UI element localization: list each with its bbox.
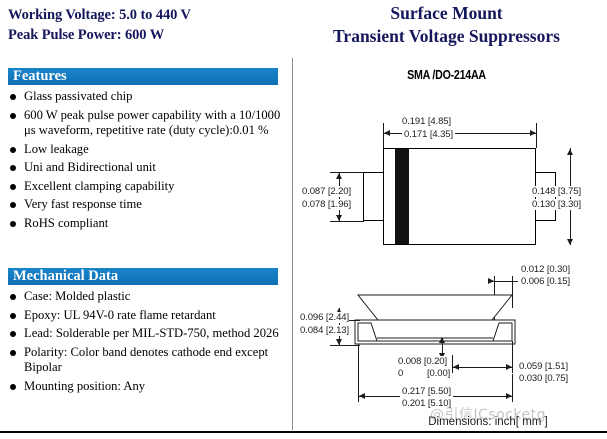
ext-line <box>536 123 537 148</box>
dim-line-foot <box>452 367 512 368</box>
list-item-text: Very fast response time <box>24 197 288 213</box>
features-list: Glass passivated chip 600 W peak pulse p… <box>8 89 288 234</box>
bullet-icon <box>10 202 16 208</box>
bullet-icon <box>10 384 16 390</box>
arrow-right-icon <box>488 278 494 284</box>
list-item: Mounting position: Any <box>8 379 288 395</box>
arrow-right-icon <box>530 130 536 136</box>
working-voltage-line: Working Voltage: 5.0 to 440 V <box>8 5 298 25</box>
arrow-down-icon <box>567 239 573 245</box>
list-item: Low leakage <box>8 142 288 158</box>
dim-width-max: 0.191 [4.85] <box>402 116 451 127</box>
dim-standoff-min: 0 <box>398 368 403 379</box>
arrow-up-icon <box>336 173 342 179</box>
dim-foot-max: 0.059 [1.51] <box>519 361 568 372</box>
ext-line <box>330 345 360 346</box>
dim-thickness-max: 0.012 [0.30] <box>521 264 570 275</box>
ext-line <box>512 341 513 373</box>
arrow-left-icon <box>384 130 390 136</box>
bullet-icon <box>10 184 16 190</box>
mechanical-data-list: Case: Molded plastic Epoxy: UL 94V-0 rat… <box>8 289 288 397</box>
document-title: Surface Mount Transient Voltage Suppress… <box>286 2 607 48</box>
arrow-right-icon <box>506 364 512 370</box>
dim-lead-max: 0.087 [2.20] <box>302 186 351 197</box>
arrow-right-icon <box>506 393 512 399</box>
list-item-text: Uni and Bidirectional unit <box>24 160 288 176</box>
dimensions-note: Dimensions: inch[ mm ] <box>383 416 593 428</box>
list-item: 600 W peak pulse power capability with a… <box>8 108 288 139</box>
list-item: Case: Molded plastic <box>8 289 288 305</box>
arrow-left-icon <box>453 364 459 370</box>
ext-line <box>512 374 513 402</box>
header-spec-block: Working Voltage: 5.0 to 440 V Peak Pulse… <box>8 5 298 45</box>
list-item-text: Epoxy: UL 94V-0 rate flame retardant <box>24 308 288 324</box>
title-line-1: Surface Mount <box>286 2 607 25</box>
bullet-icon <box>10 313 16 319</box>
dim-length-max: 0.217 [5.50] <box>400 386 453 397</box>
mechanical-data-heading-label: Mechanical Data <box>13 267 118 285</box>
list-item: Lead: Solderable per MIL-STD-750, method… <box>8 326 288 342</box>
dim-height-min: 0.130 [3.30] <box>530 199 583 210</box>
bullet-icon <box>10 221 16 227</box>
ext-line <box>330 221 364 222</box>
dim-body-max: 0.096 [2.44] <box>300 312 349 323</box>
cathode-band <box>395 149 409 244</box>
peak-pulse-power-line: Peak Pulse Power: 600 W <box>8 25 298 45</box>
arrow-down-icon <box>336 339 342 345</box>
list-item-text: 600 W peak pulse power capability with a… <box>24 108 288 139</box>
dim-height-max: 0.148 [3.75] <box>530 186 583 197</box>
list-item: Uni and Bidirectional unit <box>8 160 288 176</box>
bottom-rule <box>0 431 607 433</box>
dim-width-min: 0.171 [4.35] <box>402 129 455 140</box>
list-item: RoHS compliant <box>8 216 288 232</box>
dim-standoff-min-mm: [0.00] <box>427 368 450 379</box>
list-item-text: Lead: Solderable per MIL-STD-750, method… <box>24 326 288 342</box>
bullet-icon <box>10 331 16 337</box>
list-item: Polarity: Color band denotes cathode end… <box>8 345 288 376</box>
features-heading-label: Features <box>13 67 67 85</box>
dim-body-min: 0.084 [2.13] <box>300 325 349 336</box>
list-item-text: Case: Molded plastic <box>24 289 288 305</box>
list-item: Very fast response time <box>8 197 288 213</box>
bullet-icon <box>10 350 16 356</box>
mechanical-data-heading-banner: Mechanical Data <box>8 268 278 285</box>
dim-foot-min: 0.030 [0.75] <box>519 373 568 384</box>
bullet-icon <box>10 165 16 171</box>
list-item-text: Polarity: Color band denotes cathode end… <box>24 345 288 376</box>
list-item-text: Excellent clamping capability <box>24 179 288 195</box>
arrow-left-icon <box>359 393 365 399</box>
list-item: Glass passivated chip <box>8 89 288 105</box>
bullet-icon <box>10 94 16 100</box>
dim-lead-min: 0.078 [1.96] <box>302 199 351 210</box>
bullet-icon <box>10 294 16 300</box>
arrow-down-icon <box>336 215 342 221</box>
arrow-up-icon <box>439 337 445 343</box>
bullet-icon <box>10 147 16 153</box>
package-label: SMA /DO-214AA <box>315 67 578 82</box>
list-item-text: Low leakage <box>24 142 288 158</box>
title-line-2: Transient Voltage Suppressors <box>286 25 607 48</box>
dim-thickness-min: 0.006 [0.15] <box>521 276 570 287</box>
arrow-up-icon <box>567 149 573 155</box>
list-item-text: Glass passivated chip <box>24 89 288 105</box>
list-item-text: Mounting position: Any <box>24 379 288 395</box>
bullet-icon <box>10 113 16 119</box>
list-item: Excellent clamping capability <box>8 179 288 195</box>
list-item-text: RoHS compliant <box>24 216 288 232</box>
features-heading-banner: Features <box>8 68 278 85</box>
vertical-divider <box>292 58 293 430</box>
dim-standoff-max: 0.008 [0.20] <box>398 356 447 367</box>
band-gap <box>389 149 395 244</box>
lead-tab-left <box>363 172 384 221</box>
list-item: Epoxy: UL 94V-0 rate flame retardant <box>8 308 288 324</box>
